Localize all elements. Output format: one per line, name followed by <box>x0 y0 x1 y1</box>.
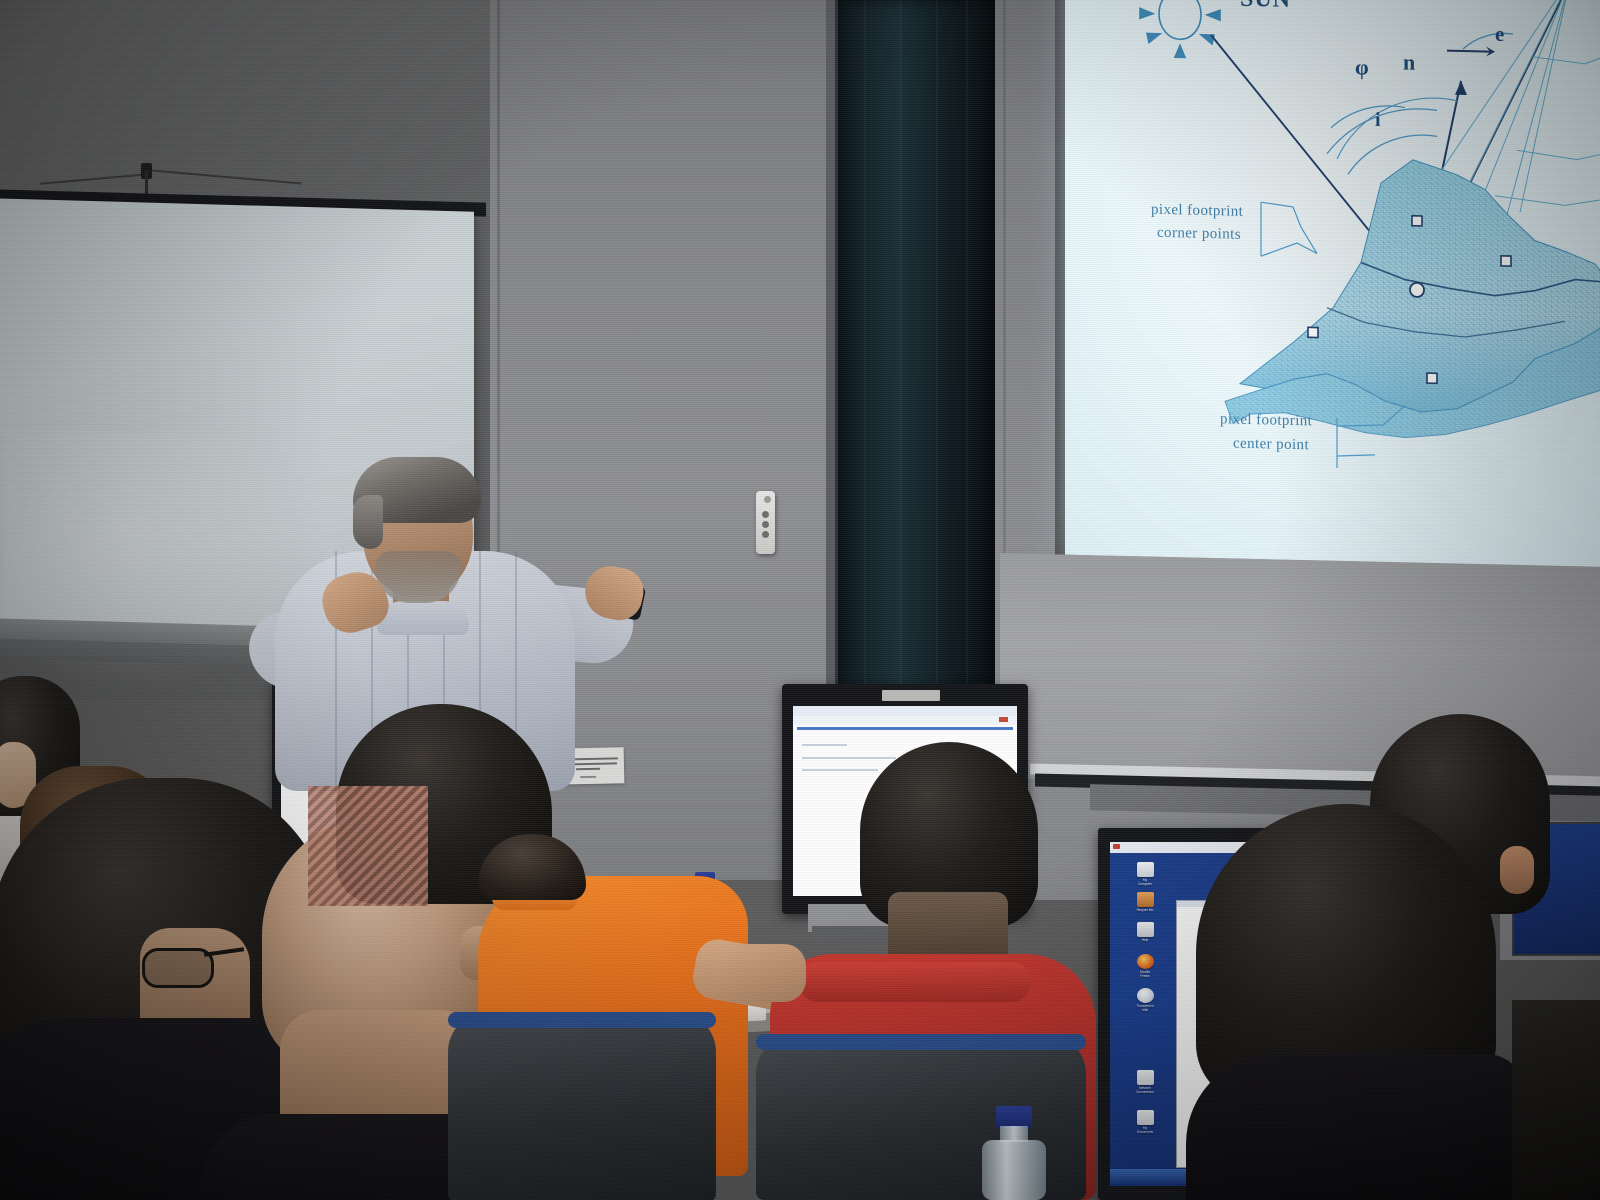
e-arc <box>1463 32 1513 50</box>
sun-label: SUN <box>1240 0 1291 14</box>
desktop-icon-recycle-bin[interactable]: Recycle Bin <box>1136 892 1154 912</box>
window-curtain <box>838 0 995 790</box>
attendee-striped-shirt <box>308 786 428 906</box>
light-switch-button[interactable] <box>762 531 769 538</box>
presenter-collar <box>377 601 469 635</box>
chair-left-rim <box>448 1012 716 1028</box>
bottle-front[interactable] <box>978 1106 1050 1200</box>
footprint-center-label-line1: pixel footprint <box>1220 411 1312 430</box>
light-switch-button[interactable] <box>762 521 769 528</box>
desktop-icon-network-connections[interactable]: Network Connections <box>1136 1070 1154 1094</box>
desktop-icon-my-computer[interactable]: My Computer <box>1136 862 1154 886</box>
footprint-corner-marker <box>1412 216 1422 226</box>
desktop-icon-thunderbird[interactable]: Thunderbird Mail <box>1136 988 1154 1012</box>
attendee-right-front <box>1196 804 1526 1200</box>
footprint-corner-marker <box>1427 373 1437 383</box>
attendee-orange-hair <box>478 834 586 900</box>
bottle-front-cap[interactable] <box>996 1106 1032 1128</box>
wall-seam <box>1003 0 1006 560</box>
chair-center-rim <box>756 1034 1086 1050</box>
desktop-icon-firefox[interactable]: Mozilla Firefox <box>1136 954 1154 978</box>
callout-bracket-corner <box>1261 202 1317 257</box>
desktop-icon-my-documents[interactable]: My Documents <box>1136 1110 1154 1134</box>
footprint-corner-marker <box>1501 256 1511 266</box>
slide-leader-lines <box>1495 52 1600 207</box>
presenter-hair-side <box>353 495 383 549</box>
monitor-center-logo-plate <box>882 690 940 701</box>
footprint-corner-label-line1: pixel footprint <box>1151 202 1243 221</box>
i-label: i <box>1375 109 1381 132</box>
slide-illumination-geometry-svg <box>1065 0 1600 567</box>
classroom-scene: SUN φ n e i pixel footprint corner point… <box>0 0 1600 1200</box>
phi-arc <box>1327 107 1437 157</box>
footprint-corner-label-line2: corner points <box>1157 225 1241 244</box>
i-arc <box>1331 105 1405 130</box>
projected-slide: SUN φ n e i pixel footprint corner point… <box>1065 0 1600 567</box>
n-label: n <box>1403 50 1415 76</box>
e-label: e <box>1495 22 1504 47</box>
footprint-center-marker <box>1410 283 1424 297</box>
attendee-red-arm <box>714 944 806 1002</box>
attendee-right-edge-body <box>1512 1000 1600 1200</box>
chair-left[interactable] <box>448 1012 716 1200</box>
curtain-rail <box>826 0 835 790</box>
phi-label: φ <box>1355 54 1369 80</box>
sun-icon <box>1140 0 1220 58</box>
terrain-mesh <box>1225 155 1600 442</box>
light-switch-indicator-icon <box>764 496 771 503</box>
footprint-corner-marker <box>1308 327 1318 337</box>
desktop-icon-help[interactable]: Help <box>1136 922 1154 942</box>
light-switch-button[interactable] <box>762 511 769 518</box>
red-shirt-collar <box>800 962 1030 1002</box>
footprint-center-label-line2: center point <box>1233 436 1309 455</box>
